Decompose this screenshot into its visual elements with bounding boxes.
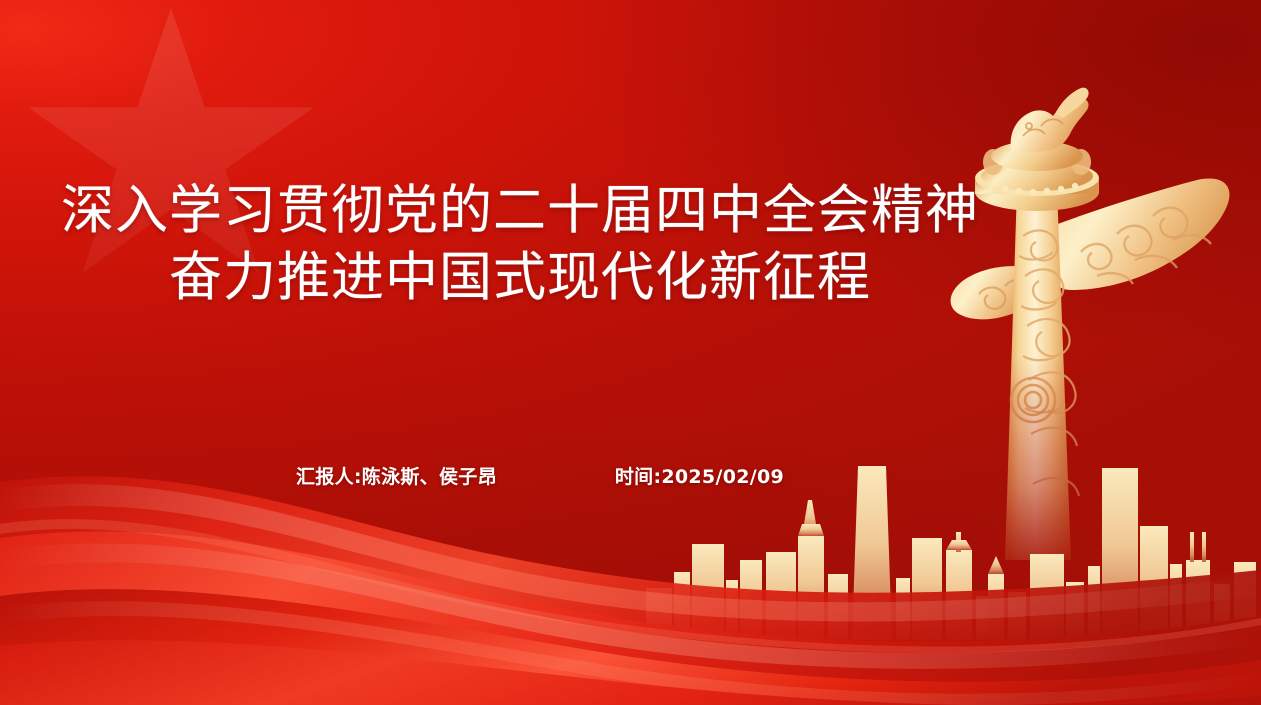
red-ribbon-waves [0,420,1261,705]
presentation-cover-slide: 深入学习贯彻党的二十届四中全会精神 奋力推进中国式现代化新征程 汇报人:陈泳斯、… [0,0,1261,705]
